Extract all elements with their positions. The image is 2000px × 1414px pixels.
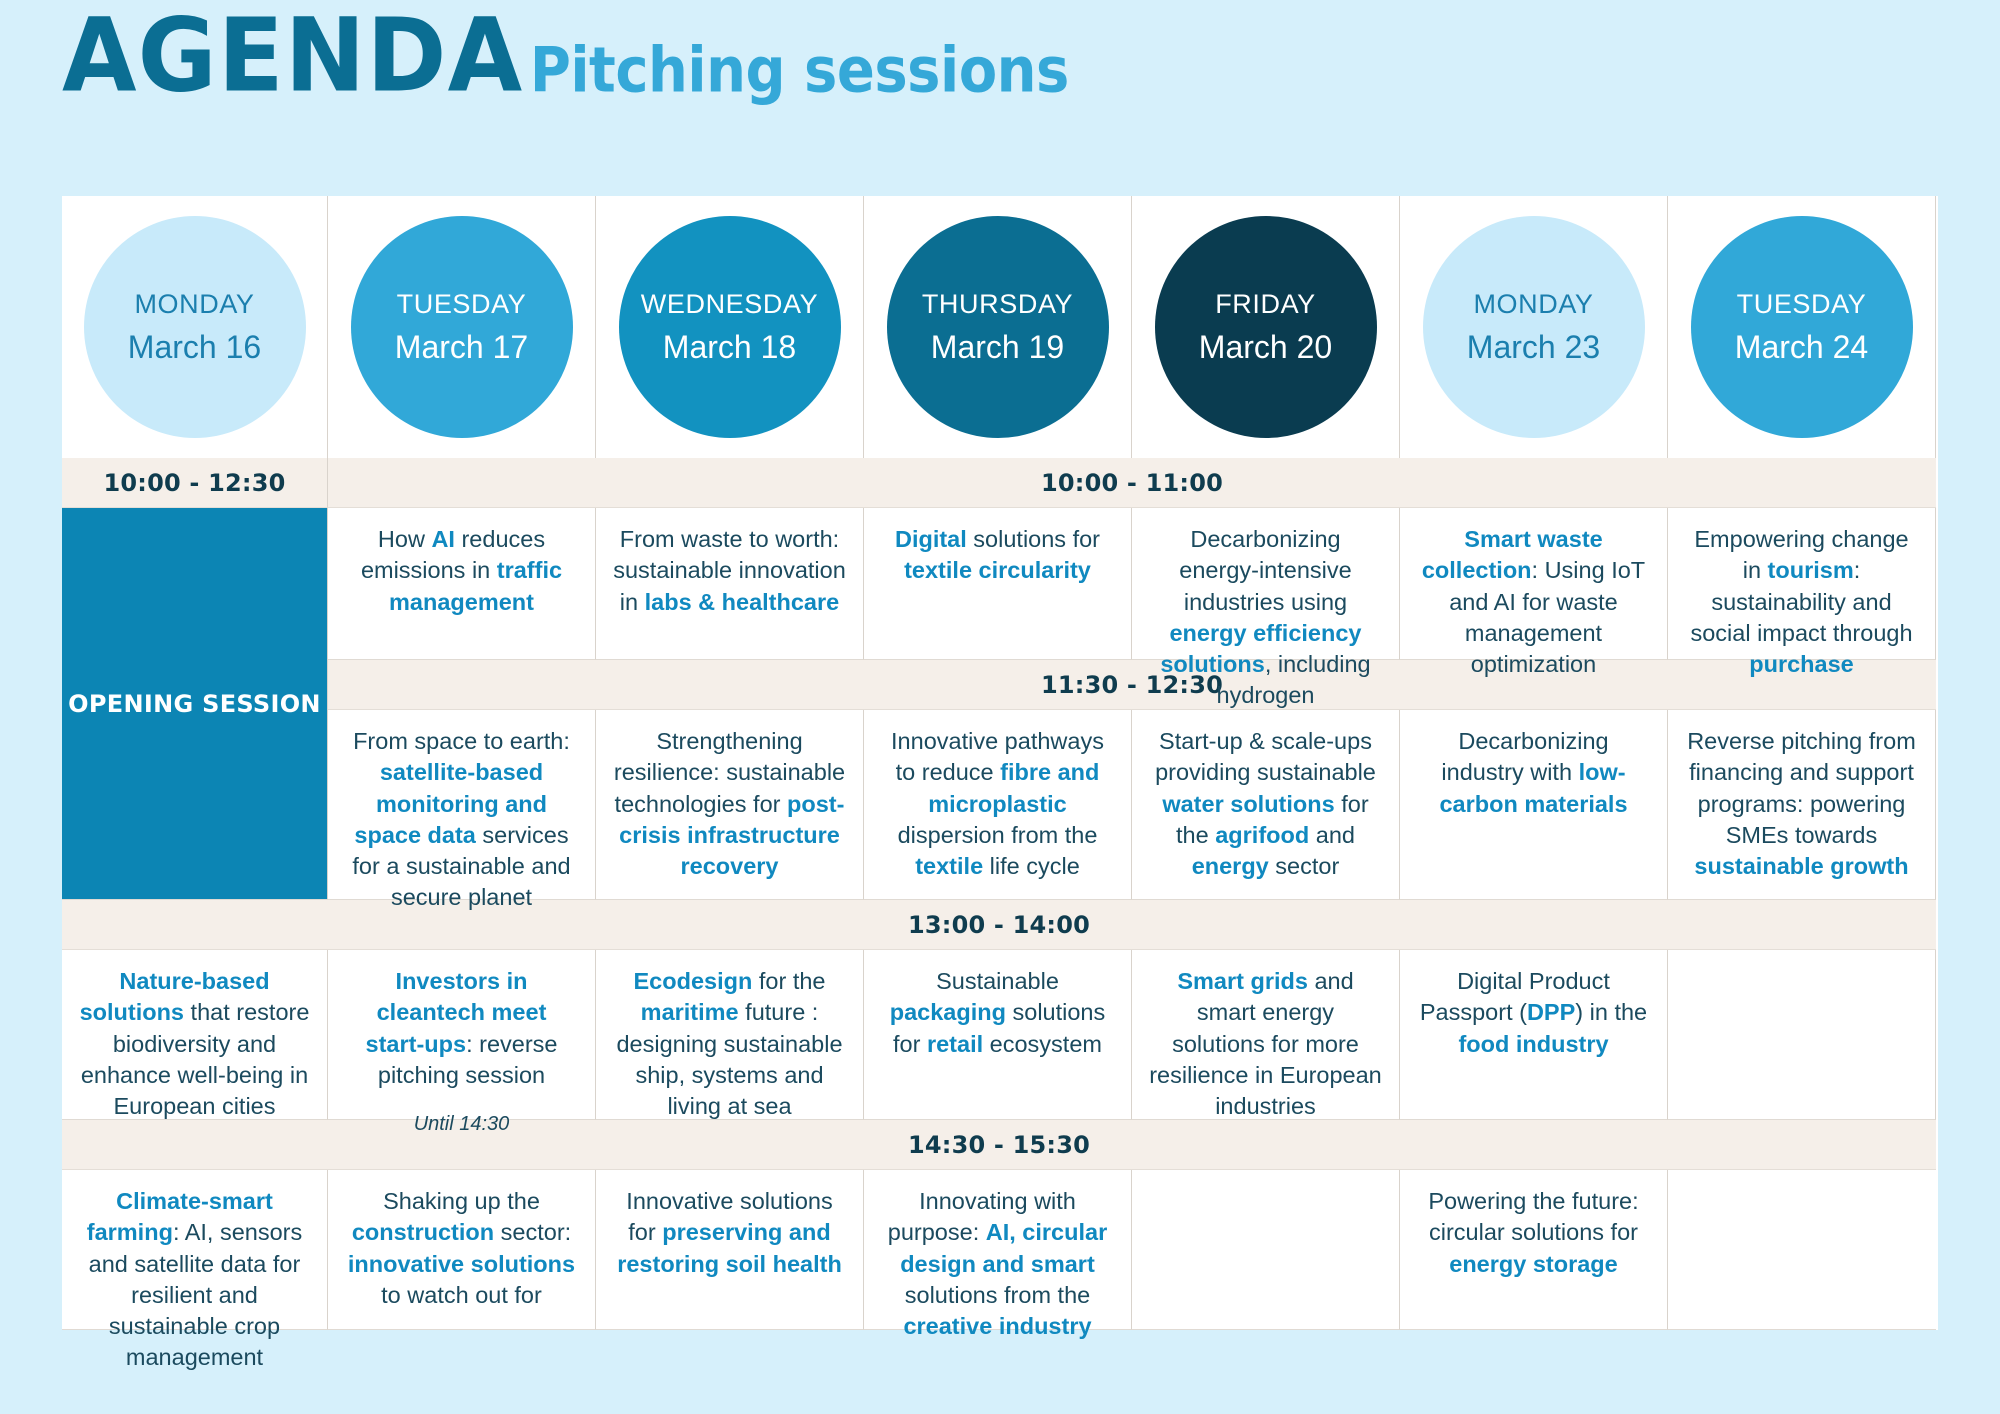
session-text: Digital Product Passport (DPP) in the fo… <box>1416 966 1651 1060</box>
day-name: WEDNESDAY <box>641 289 818 320</box>
session-cell[interactable]: Powering the future: circular solutions … <box>1400 1170 1668 1330</box>
day-circle: THURSDAYMarch 19 <box>887 216 1109 438</box>
session-cell[interactable]: Innovative pathways to reduce fibre and … <box>864 710 1132 900</box>
day-name: TUESDAY <box>1737 289 1867 320</box>
session-cell[interactable]: Smart waste collection: Using IoT and AI… <box>1400 508 1668 660</box>
day-header-thursday-march-19[interactable]: THURSDAYMarch 19 <box>864 196 1132 458</box>
agenda-page: AGENDA Pitching sessions MONDAYMarch 16T… <box>0 0 2000 1414</box>
day-circle: WEDNESDAYMarch 18 <box>619 216 841 438</box>
session-cell-empty <box>1668 1170 1936 1330</box>
session-text: How AI reduces emissions in traffic mana… <box>344 524 579 618</box>
day-header-tuesday-march-24[interactable]: TUESDAYMarch 24 <box>1668 196 1936 458</box>
day-header-friday-march-20[interactable]: FRIDAYMarch 20 <box>1132 196 1400 458</box>
day-date: March 16 <box>128 329 261 366</box>
session-text: Decarbonizing energy-intensive industrie… <box>1148 524 1383 712</box>
time-band-1000-1100: 10:00 - 11:00 <box>328 458 1936 508</box>
session-text: Reverse pitching from financing and supp… <box>1684 726 1919 882</box>
session-text: Innovating with purpose: AI, circular de… <box>880 1186 1115 1342</box>
day-date: March 17 <box>395 329 528 366</box>
session-text: Smart waste collection: Using IoT and AI… <box>1416 524 1651 680</box>
day-header-monday-march-16[interactable]: MONDAYMarch 16 <box>62 196 328 458</box>
session-cell[interactable]: Climate-smart farming: AI, sensors and s… <box>62 1170 328 1330</box>
session-text: Smart grids and smart energy solutions f… <box>1148 966 1383 1122</box>
session-text: Innovative pathways to reduce fibre and … <box>880 726 1115 882</box>
session-cell[interactable]: Ecodesign for the maritime future : desi… <box>596 950 864 1120</box>
day-date: March 18 <box>663 329 796 366</box>
session-text: Start-up & scale-ups providing sustainab… <box>1148 726 1383 882</box>
session-cell[interactable]: Start-up & scale-ups providing sustainab… <box>1132 710 1400 900</box>
day-date: March 23 <box>1467 329 1600 366</box>
day-circle: MONDAYMarch 16 <box>84 216 306 438</box>
session-text: Innovative solutions for preserving and … <box>612 1186 847 1280</box>
day-name: MONDAY <box>134 289 254 320</box>
session-cell[interactable]: Decarbonizing energy-intensive industrie… <box>1132 508 1400 660</box>
session-cell[interactable]: From waste to worth: sustainable innovat… <box>596 508 864 660</box>
session-text: Investors in cleantech meet start-ups: r… <box>344 966 579 1138</box>
session-cell[interactable]: Nature-based solutions that restore biod… <box>62 950 328 1120</box>
day-circle: TUESDAYMarch 24 <box>1691 216 1913 438</box>
session-text: Shaking up the construction sector: inno… <box>344 1186 579 1311</box>
day-name: MONDAY <box>1473 289 1593 320</box>
session-cell[interactable]: Innovating with purpose: AI, circular de… <box>864 1170 1132 1330</box>
agenda-grid: MONDAYMarch 16TUESDAYMarch 17WEDNESDAYMa… <box>62 196 1938 1330</box>
time-label: 10:00 - 12:30 <box>103 469 285 497</box>
session-text: Nature-based solutions that restore biod… <box>78 966 311 1122</box>
session-text: Sustainable packaging solutions for reta… <box>880 966 1115 1060</box>
day-circle: MONDAYMarch 23 <box>1423 216 1645 438</box>
day-circle: FRIDAYMarch 20 <box>1155 216 1377 438</box>
session-cell[interactable]: Investors in cleantech meet start-ups: r… <box>328 950 596 1120</box>
opening-session-block: OPENING SESSION <box>62 508 328 900</box>
day-header-monday-march-23[interactable]: MONDAYMarch 23 <box>1400 196 1668 458</box>
session-text: From space to earth: satellite-based mon… <box>344 726 579 914</box>
page-title: AGENDA <box>62 9 523 105</box>
day-circle: TUESDAYMarch 17 <box>351 216 573 438</box>
time-band-opening: 10:00 - 12:30 <box>62 458 328 508</box>
session-text: Decarbonizing industry with low-carbon m… <box>1416 726 1651 820</box>
day-name: FRIDAY <box>1215 289 1316 320</box>
session-cell[interactable]: Strengthening resilience: sustainable te… <box>596 710 864 900</box>
session-text: Powering the future: circular solutions … <box>1416 1186 1651 1280</box>
session-cell[interactable]: Digital Product Passport (DPP) in the fo… <box>1400 950 1668 1120</box>
session-cell-empty <box>1132 1170 1400 1330</box>
session-cell[interactable]: Digital solutions for textile circularit… <box>864 508 1132 660</box>
session-text: Strengthening resilience: sustainable te… <box>612 726 847 882</box>
session-cell[interactable]: From space to earth: satellite-based mon… <box>328 710 596 900</box>
day-name: THURSDAY <box>922 289 1073 320</box>
day-header-wednesday-march-18[interactable]: WEDNESDAYMarch 18 <box>596 196 864 458</box>
page-header: AGENDA Pitching sessions <box>62 24 1069 107</box>
session-cell[interactable]: Empowering change in tourism: sustainabi… <box>1668 508 1936 660</box>
session-cell[interactable]: Innovative solutions for preserving and … <box>596 1170 864 1330</box>
day-date: March 24 <box>1735 329 1868 366</box>
session-text: Empowering change in tourism: sustainabi… <box>1684 524 1919 680</box>
opening-session-label: OPENING SESSION <box>68 690 321 718</box>
session-cell[interactable]: Reverse pitching from financing and supp… <box>1668 710 1936 900</box>
day-date: March 19 <box>931 329 1064 366</box>
session-text: Digital solutions for textile circularit… <box>880 524 1115 587</box>
session-text: Climate-smart farming: AI, sensors and s… <box>78 1186 311 1374</box>
session-cell[interactable]: Shaking up the construction sector: inno… <box>328 1170 596 1330</box>
day-header-tuesday-march-17[interactable]: TUESDAYMarch 17 <box>328 196 596 458</box>
time-label: 13:00 - 14:00 <box>908 911 1090 939</box>
session-cell[interactable]: Smart grids and smart energy solutions f… <box>1132 950 1400 1120</box>
session-cell-empty <box>1668 950 1936 1120</box>
session-cell[interactable]: Decarbonizing industry with low-carbon m… <box>1400 710 1668 900</box>
day-date: March 20 <box>1199 329 1332 366</box>
page-subtitle: Pitching sessions <box>530 34 1069 107</box>
session-cell[interactable]: How AI reduces emissions in traffic mana… <box>328 508 596 660</box>
time-label: 10:00 - 11:00 <box>1041 469 1223 497</box>
session-cell[interactable]: Sustainable packaging solutions for reta… <box>864 950 1132 1120</box>
session-text: Ecodesign for the maritime future : desi… <box>612 966 847 1122</box>
time-label: 14:30 - 15:30 <box>908 1131 1090 1159</box>
session-text: From waste to worth: sustainable innovat… <box>612 524 847 618</box>
day-name: TUESDAY <box>397 289 527 320</box>
